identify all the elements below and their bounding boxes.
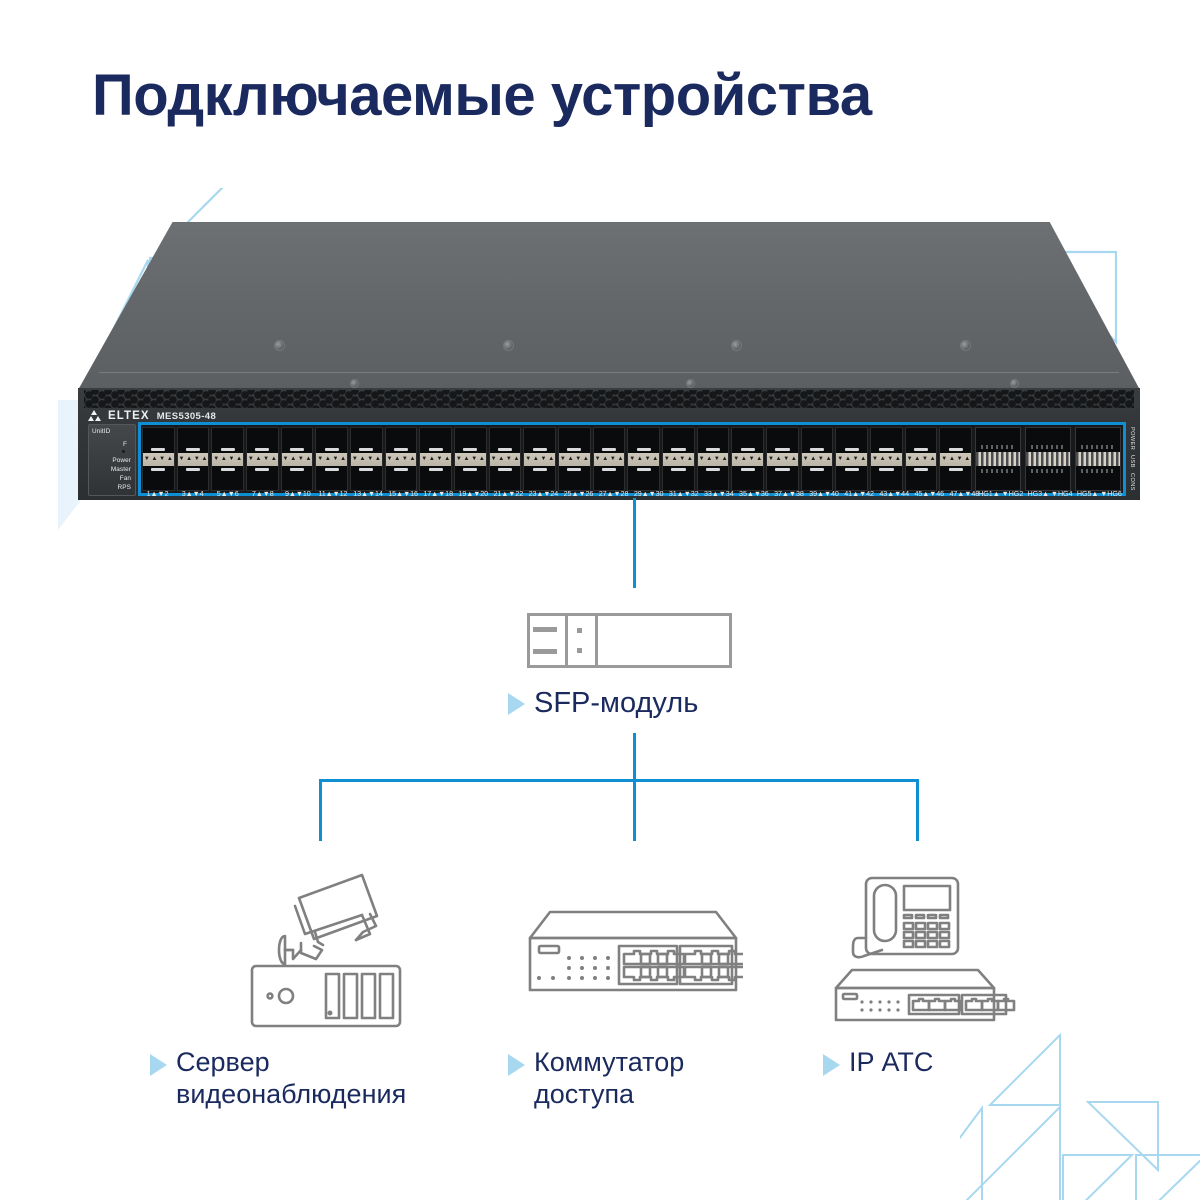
connector-to-server: [319, 779, 322, 841]
connector-sfp-trunk: [633, 733, 636, 781]
sfp-port-cage: ▼▲▼▲: [489, 427, 522, 491]
bullet-triangle-icon: [823, 1054, 840, 1076]
sfp-port-label: 31▲▼32: [666, 489, 701, 498]
connector-switch-to-sfp: [633, 498, 636, 588]
power-label: Power: [112, 457, 131, 464]
f-label: F: [123, 441, 127, 448]
sfp-port-label: 7▲▼8: [245, 489, 280, 498]
sfp-port-cage: ▼▲▼▲: [419, 427, 452, 491]
device-label-line1: Сервер: [176, 1047, 270, 1077]
chassis-screw: [1010, 379, 1019, 388]
master-label: Master: [111, 466, 131, 473]
power-connector-label: POWER: [1129, 427, 1135, 450]
sfp-port-label: 37▲▼38: [771, 489, 806, 498]
sfp-port-cage: ▼▲▼▲: [385, 427, 418, 491]
sfp-port-label: 45▲▼46: [912, 489, 947, 498]
device-label-text: Сервер видеонаблюдения: [176, 1047, 406, 1111]
device-label-access-switch: Коммутатор доступа: [508, 1047, 808, 1111]
ip-phone-and-pbx-icon: [826, 868, 1016, 1023]
device-label-ip-pbx: IP АТС: [823, 1047, 1073, 1079]
unit-id-label: UnitID: [92, 428, 110, 435]
switch-chassis-seam: [99, 372, 1119, 373]
bullet-triangle-icon: [508, 693, 525, 715]
brand-name: ELTEX: [108, 410, 150, 422]
qsfp-port-cages: [973, 425, 1123, 493]
sfp-port-label-row: 1▲▼23▲▼45▲▼67▲▼89▲▼1011▲▼1213▲▼1415▲▼161…: [140, 489, 982, 498]
sfp-port-label: 9▲▼10: [280, 489, 315, 498]
chassis-screw: [731, 340, 742, 351]
console-connector-label: CONS: [1129, 473, 1135, 491]
model-name: MES5305-48: [157, 411, 216, 422]
page-title: Подключаемые устройства: [92, 62, 872, 129]
sfp-port-label: 43▲▼44: [877, 489, 912, 498]
connector-to-access-switch: [633, 779, 636, 841]
sfp-port-cage: ▼▲▼▲: [766, 427, 799, 491]
qsfp-port-label-row: HG1▲ ▼HG2HG3▲ ▼HG4HG5▲ ▼HG6: [976, 489, 1124, 498]
sfp-port-label: 21▲▼22: [491, 489, 526, 498]
eltex-logo-icon: [88, 410, 101, 422]
sfp-port-label: 29▲▼30: [631, 489, 666, 498]
sfp-port-cage: ▼▲▼▲: [211, 427, 244, 491]
sfp-port-cage: ▼▲▼▲: [593, 427, 626, 491]
sfp-port-cage: ▼▲▼▲: [870, 427, 903, 491]
sfp-port-label: 11▲▼12: [315, 489, 350, 498]
sfp-port-cage: ▼▲▼▲: [697, 427, 730, 491]
sfp-port-label: 5▲▼6: [210, 489, 245, 498]
chassis-screw: [274, 340, 285, 351]
sfp-module-label: SFP-модуль: [508, 686, 698, 720]
sfp-port-label: 23▲▼24: [526, 489, 561, 498]
sfp-port-cage: ▼▲▼▲: [281, 427, 314, 491]
sfp-port-cage: ▼▲▼▲: [905, 427, 938, 491]
sfp-port-label: 1▲▼2: [140, 489, 175, 498]
sfp-port-label: 3▲▼4: [175, 489, 210, 498]
sfp-port-label: 13▲▼14: [350, 489, 385, 498]
switch-front-panel: ELTEX MES5305-48 UnitID F Power Master F…: [78, 388, 1140, 500]
sfp-port-label: 25▲▼26: [561, 489, 596, 498]
sfp-port-label: 17▲▼18: [421, 489, 456, 498]
chassis-screw: [350, 379, 359, 388]
fan-label: Fan: [120, 475, 131, 482]
bullet-triangle-icon: [150, 1054, 167, 1076]
cctv-camera-and-server-icon: [244, 858, 444, 1038]
sfp-port-cage: ▼▲▼▲: [523, 427, 556, 491]
sfp-port-cage: ▼▲▼▲: [939, 427, 972, 491]
rps-label: RPS: [118, 484, 131, 491]
sfp-port-cage: ▼▲▼▲: [835, 427, 868, 491]
poster-canvas: Подключаемые устройства ELTEX MES5305-48…: [0, 0, 1200, 1200]
qsfp-port-cage: [1025, 427, 1071, 491]
usb-connector-label: USB: [1129, 455, 1135, 468]
device-label-line2: доступа: [534, 1079, 634, 1109]
sfp-port-cage: ▼▲▼▲: [454, 427, 487, 491]
sfp-port-cage: ▼▲▼▲: [627, 427, 660, 491]
sfp-port-label: 39▲▼40: [806, 489, 841, 498]
sfp-port-label: 19▲▼20: [456, 489, 491, 498]
port-area-highlight: ▼▲▼▲▼▲▼▲▼▲▼▲▼▲▼▲▼▲▼▲▼▲▼▲▼▲▼▲▼▲▼▲▼▲▼▲▼▲▼▲…: [138, 422, 1126, 496]
chassis-screw: [503, 340, 514, 351]
switch-chassis-top: [78, 222, 1140, 390]
sfp-port-cage: ▼▲▼▲: [315, 427, 348, 491]
rear-connector-labels: POWER USB CONS: [1126, 422, 1138, 496]
sfp-module-label-text: SFP-модуль: [534, 686, 698, 720]
sfp-port-cage: ▼▲▼▲: [177, 427, 210, 491]
sfp-port-cage: ▼▲▼▲: [142, 427, 175, 491]
qsfp-port-label: HG5▲ ▼HG6: [1075, 489, 1124, 498]
sfp-port-cage: ▼▲▼▲: [731, 427, 764, 491]
connector-horizontal-bus: [319, 779, 919, 782]
qsfp-port-cage: [1075, 427, 1121, 491]
led-status-panel: UnitID F Power Master Fan RPS: [88, 424, 136, 496]
sfp-port-label: 41▲▼42: [842, 489, 877, 498]
switch-device-image: ELTEX MES5305-48 UnitID F Power Master F…: [78, 222, 1140, 500]
device-label-line2: видеонаблюдения: [176, 1079, 406, 1109]
sfp-port-cage: ▼▲▼▲: [801, 427, 834, 491]
sfp-port-cage: ▼▲▼▲: [558, 427, 591, 491]
device-label-text: Коммутатор доступа: [534, 1047, 684, 1111]
sfp-port-cages: ▼▲▼▲▼▲▼▲▼▲▼▲▼▲▼▲▼▲▼▲▼▲▼▲▼▲▼▲▼▲▼▲▼▲▼▲▼▲▼▲…: [141, 425, 973, 493]
qsfp-port-cage: [975, 427, 1021, 491]
chassis-screw: [960, 340, 971, 351]
sfp-port-label: 27▲▼28: [596, 489, 631, 498]
device-label-surveillance-server: Сервер видеонаблюдения: [150, 1047, 520, 1111]
sfp-module-icon: [527, 613, 732, 668]
sfp-port-label: 15▲▼16: [386, 489, 421, 498]
device-label-text: IP АТС: [849, 1047, 933, 1079]
f-led: [122, 450, 125, 453]
device-label-line1: Коммутатор: [534, 1047, 684, 1077]
sfp-port-label: 33▲▼34: [701, 489, 736, 498]
sfp-port-label: 35▲▼36: [736, 489, 771, 498]
sfp-port-cage: ▼▲▼▲: [350, 427, 383, 491]
sfp-port-cage: ▼▲▼▲: [246, 427, 279, 491]
access-switch-icon: [523, 898, 743, 1008]
qsfp-port-label: HG1▲ ▼HG2: [976, 489, 1025, 498]
chassis-screw: [686, 379, 695, 388]
sfp-port-cage: ▼▲▼▲: [662, 427, 695, 491]
bullet-triangle-icon: [508, 1054, 525, 1076]
qsfp-port-label: HG3▲ ▼HG4: [1025, 489, 1074, 498]
ventilation-holes: [84, 390, 1134, 408]
connector-to-ip-pbx: [916, 779, 919, 841]
